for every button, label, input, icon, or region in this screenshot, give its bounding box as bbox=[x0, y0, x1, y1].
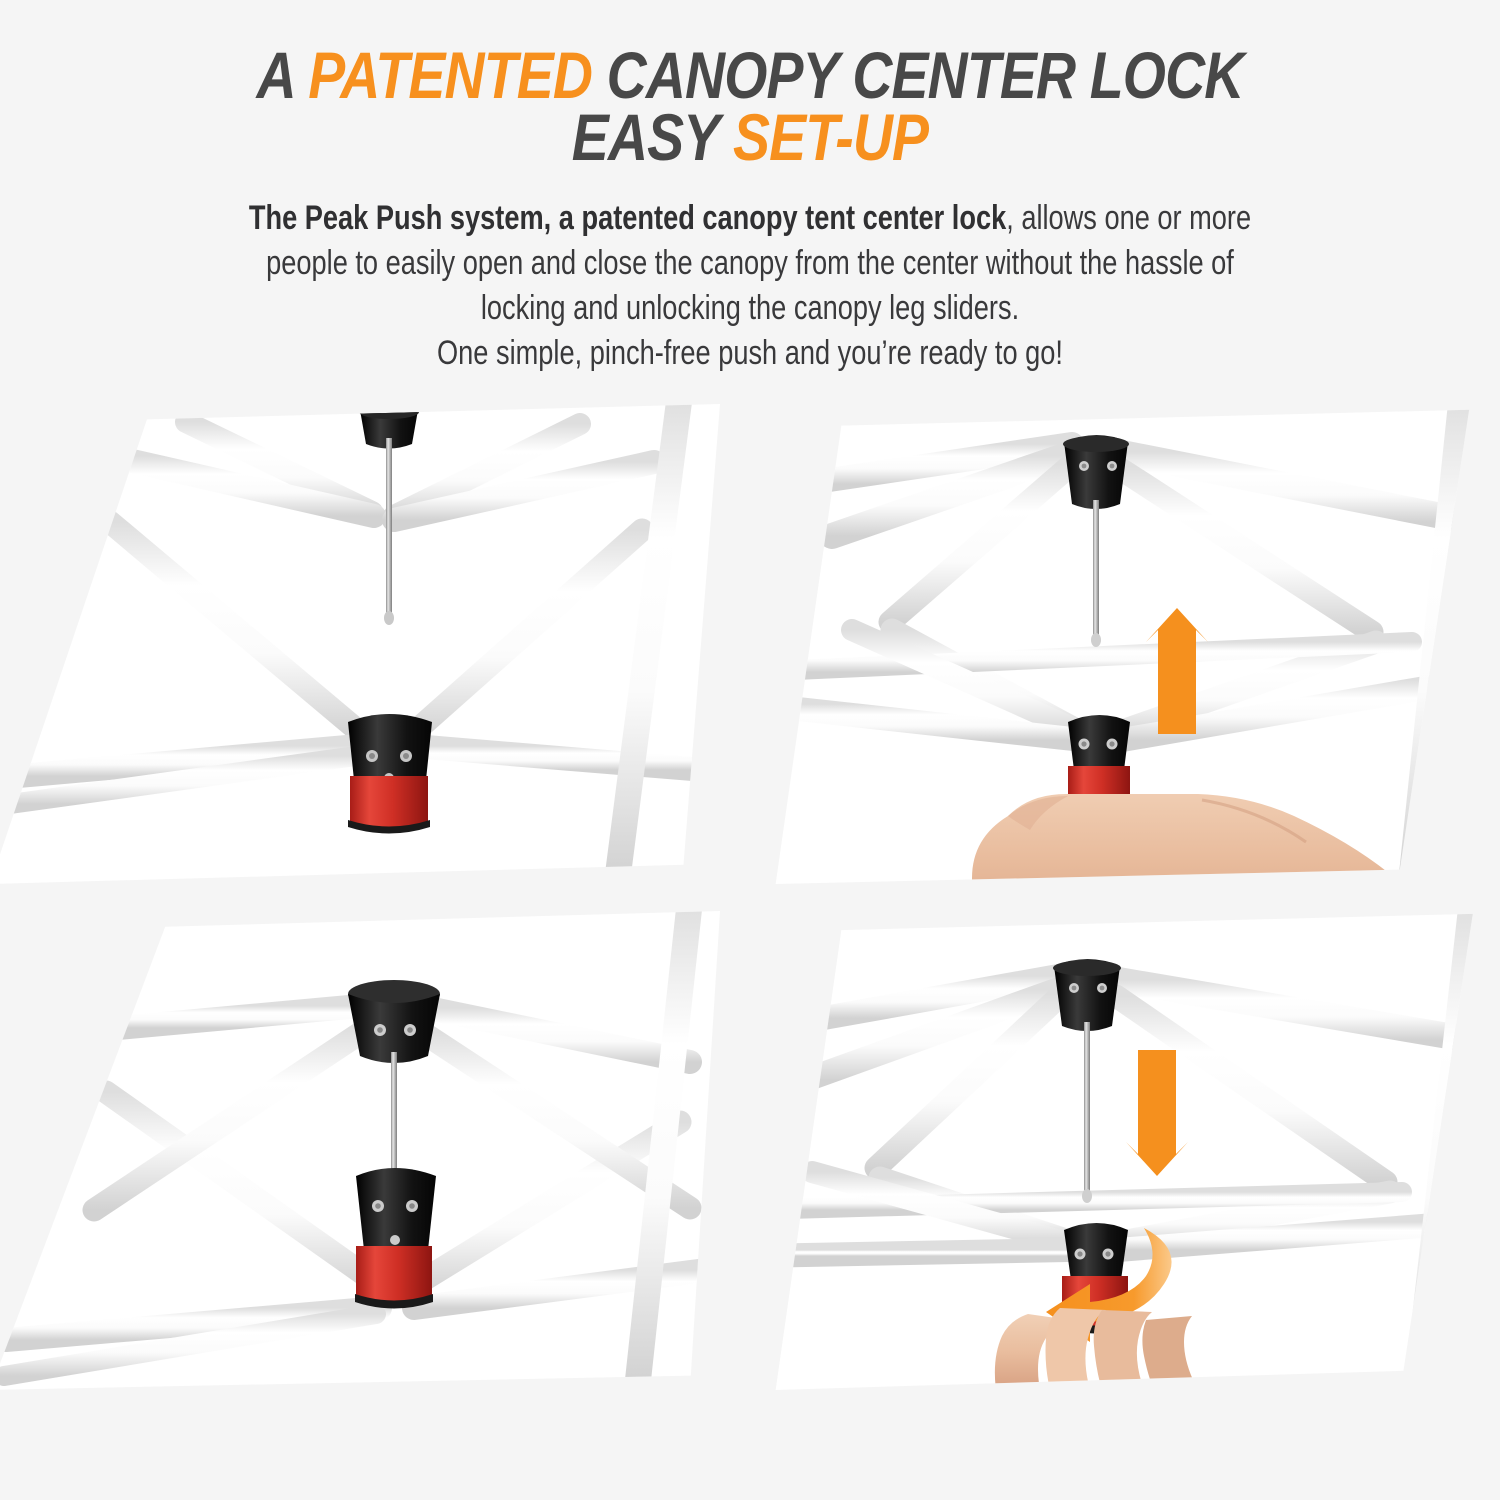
red-lock-collar bbox=[355, 1246, 433, 1309]
arrow-down-icon bbox=[1126, 1050, 1188, 1176]
red-lock-collar bbox=[348, 776, 430, 834]
peak-hub bbox=[348, 980, 440, 1063]
panel-top-right bbox=[772, 404, 1500, 884]
center-lock-hub bbox=[348, 714, 432, 786]
open-palm-hand bbox=[972, 794, 1402, 884]
panel-bottom-right bbox=[772, 910, 1500, 1390]
peak-hub bbox=[1063, 435, 1129, 509]
canopy-frame-push-up-illustration bbox=[772, 404, 1500, 884]
product-photo-grid bbox=[0, 0, 1500, 1500]
center-lock-hub bbox=[1064, 1223, 1128, 1285]
canopy-frame-closed-illustration bbox=[0, 404, 720, 884]
center-lock-hub bbox=[356, 1168, 436, 1256]
peak-hub bbox=[1053, 959, 1121, 1031]
panel-bottom-left bbox=[0, 910, 720, 1390]
panel-top-left bbox=[0, 404, 720, 884]
canopy-frame-pull-down-illustration bbox=[772, 910, 1500, 1390]
canopy-frame-open-illustration bbox=[0, 910, 720, 1390]
